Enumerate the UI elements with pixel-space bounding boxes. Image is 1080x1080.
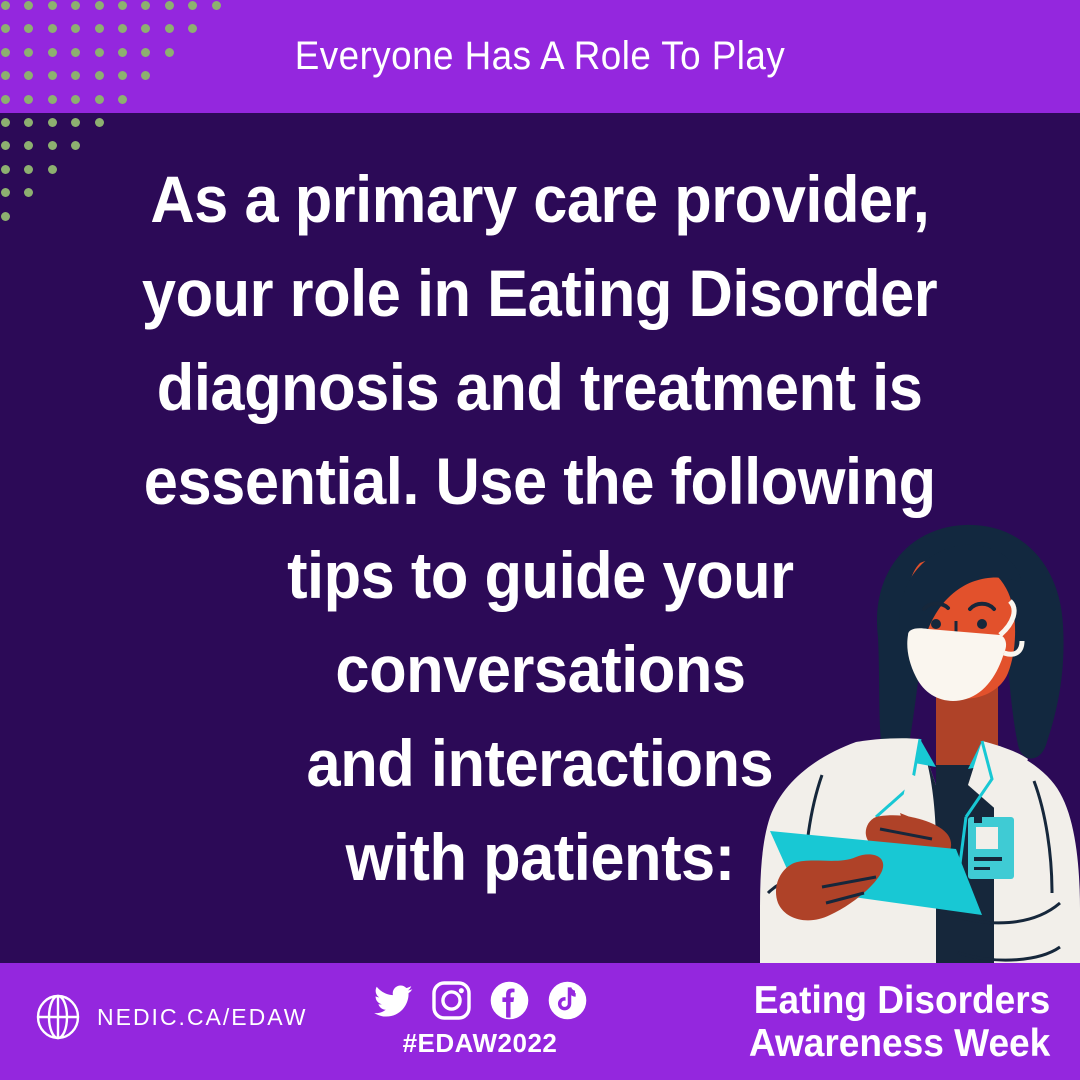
message-line: diagnosis and treatment is xyxy=(157,340,923,434)
message-line: tips to guide your xyxy=(287,528,794,622)
globe-icon xyxy=(34,993,82,1041)
dot xyxy=(48,118,57,127)
campaign-title-line1: Eating Disorders xyxy=(749,979,1050,1022)
dot xyxy=(24,118,33,127)
dot xyxy=(1,212,10,221)
message-line: with patients: xyxy=(345,810,734,904)
campaign-title: Eating Disorders Awareness Week xyxy=(733,979,1050,1065)
female-doctor-with-clipboard-illustration xyxy=(760,517,1080,967)
tiktok-icon[interactable] xyxy=(547,980,588,1021)
dot xyxy=(71,118,80,127)
hashtag-label: #EDAW2022 xyxy=(403,1028,558,1059)
message-line: essential. Use the following xyxy=(144,434,936,528)
dot xyxy=(24,141,33,150)
social-icon-row xyxy=(373,976,588,1024)
facebook-icon[interactable] xyxy=(489,980,530,1021)
dot xyxy=(95,118,104,127)
message-line: and interactions xyxy=(307,716,774,810)
dot xyxy=(48,141,57,150)
dot xyxy=(48,165,57,174)
dot xyxy=(71,141,80,150)
footer-bar: NEDIC.CA/EDAW xyxy=(0,963,1080,1080)
website-label: NEDIC.CA/EDAW xyxy=(97,1004,307,1031)
message-line: As a primary care provider, xyxy=(151,152,930,246)
dot xyxy=(1,165,10,174)
page-title: Everyone Has A Role To Play xyxy=(43,0,1037,113)
social-links: #EDAW2022 xyxy=(355,976,605,1059)
twitter-icon[interactable] xyxy=(373,980,414,1021)
message-line: your role in Eating Disorder xyxy=(142,246,937,340)
dot xyxy=(1,188,10,197)
dot xyxy=(24,188,33,197)
dot xyxy=(1,141,10,150)
dot xyxy=(1,118,10,127)
poster-canvas: Everyone Has A Role To Play As a primary… xyxy=(0,0,1080,1080)
campaign-title-line2: Awareness Week xyxy=(749,1022,1050,1065)
dot xyxy=(24,165,33,174)
instagram-icon[interactable] xyxy=(431,980,472,1021)
website-link[interactable]: NEDIC.CA/EDAW xyxy=(34,993,307,1041)
message-line: conversations xyxy=(335,622,745,716)
